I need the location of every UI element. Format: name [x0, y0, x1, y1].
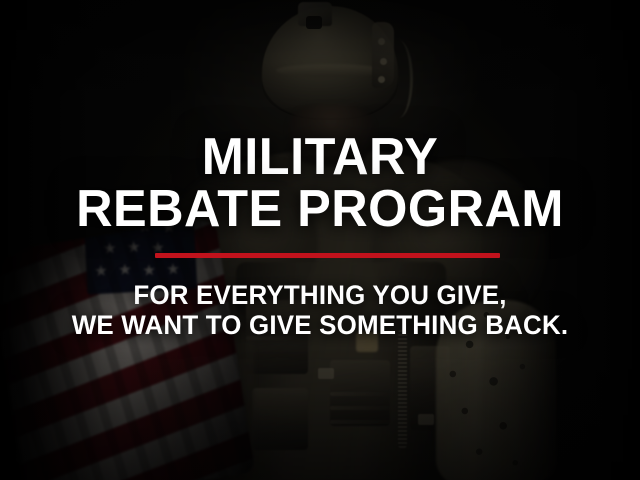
headline-line-2: REBATE PROGRAM	[10, 184, 631, 234]
headline-line-1: MILITARY	[10, 132, 631, 182]
red-divider	[155, 253, 500, 258]
text-overlay: MILITARY REBATE PROGRAM FOR EVERYTHING Y…	[0, 0, 640, 480]
subhead-line-2: WE WANT TO GIVE SOMETHING BACK.	[13, 310, 627, 341]
military-rebate-banner: ★ ★ ★ ★ ★ ★ ★ ★ ★ ★ ★ MILITARY REBATE PR…	[0, 0, 640, 480]
subhead-line-1: FOR EVERYTHING YOU GIVE,	[13, 280, 627, 311]
